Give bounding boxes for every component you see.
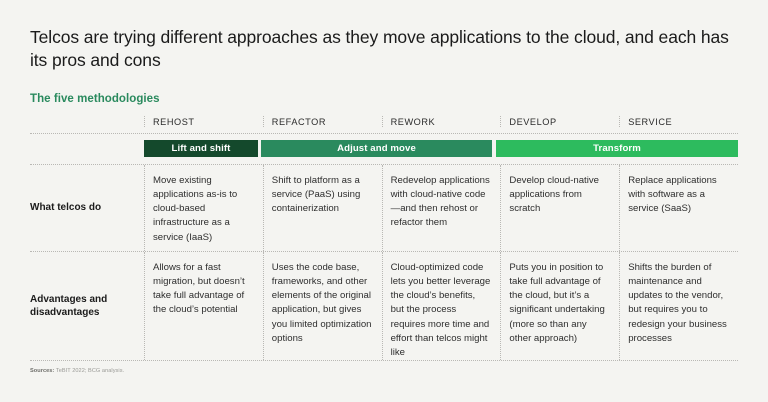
cell-what-telcos-do-rehost: Move existing applications as-is to clou… [144, 165, 263, 251]
cell-text: Replace applications with software as a … [628, 165, 728, 217]
table-row: Advantages and disadvantages Allows for … [30, 251, 738, 361]
cell-text: Move existing applications as-is to clou… [153, 165, 253, 245]
cell-text: Puts you in position to take full advant… [509, 252, 609, 346]
cell-what-telcos-do-service: Replace applications with software as a … [619, 165, 738, 251]
cell-text: Redevelop applications with cloud-native… [391, 165, 491, 231]
column-header-refactor: REFACTOR [263, 116, 382, 127]
cell-text: Shift to platform as a service (PaaS) us… [272, 165, 372, 217]
column-header-rehost: REHOST [144, 116, 263, 127]
cell-advantages-refactor: Uses the code base, frameworks, and othe… [263, 252, 382, 360]
page-title: Telcos are trying different approaches a… [30, 26, 738, 73]
table-banner-row: Lift and shift Adjust and move Transform [30, 133, 738, 164]
table-row: What telcos do Move existing application… [30, 164, 738, 251]
cell-advantages-rework: Cloud-optimized code lets you better lev… [382, 252, 501, 360]
cell-what-telcos-do-refactor: Shift to platform as a service (PaaS) us… [263, 165, 382, 251]
banner-lift-and-shift: Lift and shift [144, 140, 258, 157]
cell-text: Cloud-optimized code lets you better lev… [391, 252, 491, 360]
cell-text: Shifts the burden of maintenance and upd… [628, 252, 728, 346]
cell-text: Uses the code base, frameworks, and othe… [272, 252, 372, 346]
column-header-rework: REWORK [382, 116, 501, 127]
row-label-advantages-and-disadvantages: Advantages and disadvantages [30, 252, 144, 360]
column-header-develop: DEVELOP [500, 116, 619, 127]
banner-track: Lift and shift Adjust and move Transform [144, 140, 738, 157]
row-label-text: What telcos do [30, 165, 136, 251]
sources-text: TeBIT 2022; BCG analysis. [54, 368, 124, 374]
column-header-service: SERVICE [619, 116, 738, 127]
cell-advantages-service: Shifts the burden of maintenance and upd… [619, 252, 738, 360]
cell-text: Develop cloud-native applications from s… [509, 165, 609, 217]
table-column-header-row: REHOST REFACTOR REWORK DEVELOP SERVICE [30, 116, 738, 133]
banner-adjust-and-move: Adjust and move [261, 140, 492, 157]
banner-transform: Transform [496, 140, 738, 157]
sources-footnote: Sources: TeBIT 2022; BCG analysis. [30, 368, 124, 374]
row-label-what-telcos-do: What telcos do [30, 165, 144, 251]
sources-label: Sources: [30, 368, 54, 374]
cell-what-telcos-do-develop: Develop cloud-native applications from s… [500, 165, 619, 251]
cell-what-telcos-do-rework: Redevelop applications with cloud-native… [382, 165, 501, 251]
slide-page: Telcos are trying different approaches a… [0, 0, 768, 402]
methodologies-table: REHOST REFACTOR REWORK DEVELOP SERVICE L… [30, 116, 738, 361]
cell-advantages-rehost: Allows for a fast migration, but doesn’t… [144, 252, 263, 360]
row-label-text: Advantages and disadvantages [30, 252, 136, 360]
section-subtitle: The five methodologies [30, 93, 738, 105]
cell-text: Allows for a fast migration, but doesn’t… [153, 252, 253, 318]
banner-track-wrap: Lift and shift Adjust and move Transform [144, 140, 738, 157]
cell-advantages-develop: Puts you in position to take full advant… [500, 252, 619, 360]
